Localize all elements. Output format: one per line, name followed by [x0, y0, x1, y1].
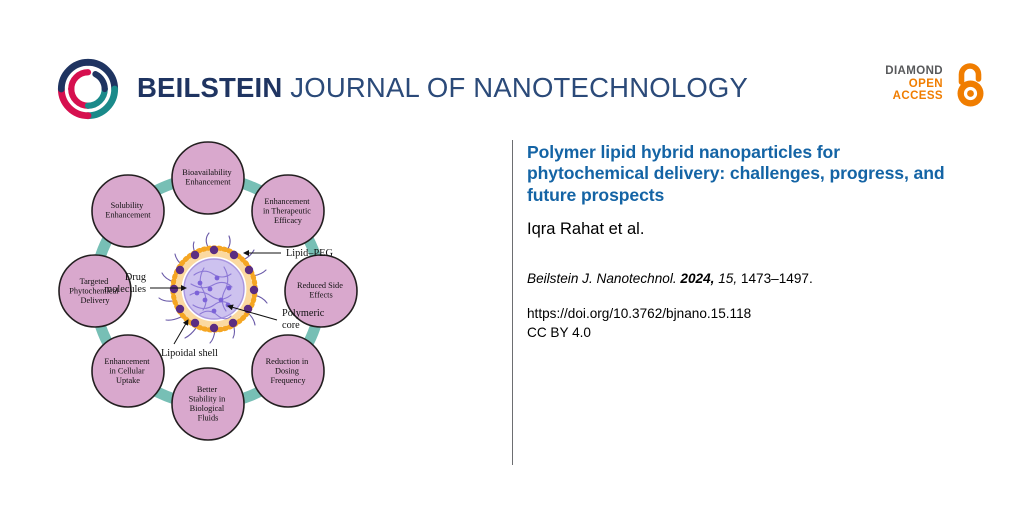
node-label-line: Efficacy	[274, 216, 303, 225]
node-label-line: Reduction in	[266, 357, 309, 366]
node-better-stability-biological-fluids[interactable]: Better Stability in Biological Fluids	[172, 368, 244, 440]
beilstein-spiral-logo-icon	[57, 58, 119, 120]
node-label-line: Solubility	[111, 201, 145, 210]
node-label-line: Uptake	[116, 376, 140, 385]
journal-branding[interactable]: BEILSTEIN JOURNAL OF NANOTECHNOLOGY	[57, 58, 748, 120]
diamond-open-access-badge[interactable]: DIAMOND OPEN ACCESS	[885, 61, 989, 107]
citation-volume: 15,	[718, 271, 737, 286]
node-label-line: Reduced Side	[297, 281, 343, 290]
node-label-line: Bioavailability	[182, 168, 232, 177]
node-label-line: Dosing	[275, 367, 299, 376]
node-label-line: Frequency	[270, 376, 306, 385]
article-metadata: Polymer lipid hybrid nanoparticles for p…	[527, 142, 967, 343]
citation-journal: Beilstein J. Nanotechnol.	[527, 271, 677, 286]
doi-link[interactable]: https://doi.org/10.3762/bjnano.15.118	[527, 304, 967, 324]
open-access-label: DIAMOND OPEN ACCESS	[885, 65, 943, 104]
node-enhancement-therapeutic-efficacy[interactable]: Enhancement in Therapeutic Efficacy	[252, 175, 324, 247]
callout-label-molecules: molecules	[104, 284, 146, 295]
node-label-line: Effects	[309, 291, 332, 300]
callout-label-drug: Drug	[125, 272, 146, 283]
node-label-line: Enhancement	[264, 197, 310, 206]
authors: Iqra Rahat et al.	[527, 219, 967, 240]
vertical-divider	[512, 140, 513, 465]
journal-title-bold: BEILSTEIN	[137, 72, 282, 103]
oa-line-diamond: DIAMOND	[885, 65, 943, 78]
node-label-line: Biological	[190, 404, 225, 413]
node-label-line: in Cellular	[109, 367, 144, 376]
citation-year: 2024,	[680, 271, 714, 286]
node-bioavailability-enhancement[interactable]: Bioavailability Enhancement	[172, 142, 244, 214]
license-label: CC BY 4.0	[527, 323, 967, 343]
open-lock-icon	[952, 61, 989, 107]
node-label-line: Fluids	[198, 414, 219, 423]
journal-title: BEILSTEIN JOURNAL OF NANOTECHNOLOGY	[137, 74, 748, 104]
citation-pages: 1473–1497.	[741, 271, 813, 286]
circular-benefits-diagram: Bioavailability Enhancement Enhancement …	[28, 128, 390, 473]
node-solubility-enhancement[interactable]: Solubility Enhancement	[92, 175, 164, 247]
header: BEILSTEIN JOURNAL OF NANOTECHNOLOGY DIAM…	[0, 0, 1024, 130]
node-label-line: Better	[197, 385, 218, 394]
graphical-abstract-figure: Bioavailability Enhancement Enhancement …	[28, 128, 390, 473]
page-title: Polymer lipid hybrid nanoparticles for p…	[527, 142, 955, 206]
svg-text:Bioavailability Enha: Bioavailability Enhancement	[182, 168, 233, 187]
journal-title-light: JOURNAL OF NANOTECHNOLOGY	[282, 72, 748, 103]
callout-label-core: core	[282, 320, 300, 331]
node-label-line: Enhancement	[104, 357, 150, 366]
svg-text:Solubility Enhanceme: Solubility Enhancement	[105, 201, 151, 220]
node-label-line: Enhancement	[105, 211, 151, 220]
citation: Beilstein J. Nanotechnol. 2024, 15, 1473…	[527, 270, 967, 288]
callout-lipid-peg: Lipid–PEG	[244, 248, 333, 259]
journal-article-card: BEILSTEIN JOURNAL OF NANOTECHNOLOGY DIAM…	[0, 0, 1024, 512]
node-enhancement-cellular-uptake[interactable]: Enhancement in Cellular Uptake	[92, 335, 164, 407]
callout-label-lipid-peg: Lipid–PEG	[286, 248, 333, 259]
callout-label-lipoidal-shell: Lipoidal shell	[161, 348, 218, 359]
oa-line-access: ACCESS	[885, 90, 943, 103]
node-label-line: Delivery	[80, 296, 110, 305]
node-reduction-dosing-frequency[interactable]: Reduction in Dosing Frequency	[252, 335, 324, 407]
node-label-line: Stability in	[189, 395, 226, 404]
callout-label-polymeric: Polymeric	[282, 308, 325, 319]
oa-line-open: OPEN	[885, 78, 943, 91]
node-label-line: in Therapeutic	[263, 207, 311, 216]
node-label-line: Enhancement	[185, 178, 231, 187]
